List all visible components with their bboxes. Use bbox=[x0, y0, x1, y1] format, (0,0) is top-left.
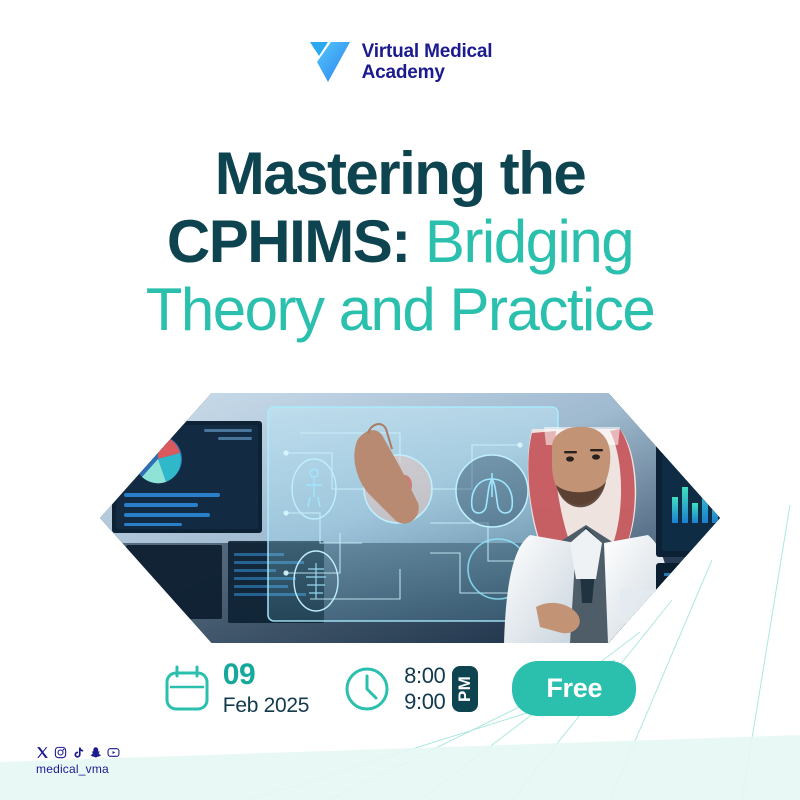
brand-logo: Virtual Medical Academy bbox=[0, 38, 800, 86]
title-line-1: Mastering the bbox=[0, 140, 800, 208]
youtube-icon[interactable] bbox=[107, 746, 120, 759]
title-bridging-label: Bridging bbox=[410, 208, 633, 275]
event-date-day: 09 bbox=[223, 660, 309, 690]
event-time-stack: 8:00 9:00 bbox=[404, 663, 445, 715]
price-badge[interactable]: Free bbox=[512, 661, 636, 716]
hero-illustration bbox=[100, 393, 720, 643]
page-title: Mastering the CPHIMS: Bridging Theory an… bbox=[0, 140, 800, 344]
event-time-end: 9:00 bbox=[404, 689, 445, 715]
tiktok-icon[interactable] bbox=[72, 746, 84, 759]
title-line-3: Theory and Practice bbox=[0, 276, 800, 344]
x-twitter-icon[interactable] bbox=[36, 746, 49, 759]
title-line-1-text: Mastering the bbox=[215, 140, 586, 207]
title-line-3-text: Theory and Practice bbox=[146, 276, 654, 343]
event-date-text: 09 Feb 2025 bbox=[223, 660, 309, 717]
brand-name-line2: Academy bbox=[362, 62, 493, 83]
event-time-start: 8:00 bbox=[404, 663, 445, 689]
event-info-bar: 09 Feb 2025 8:00 9:00 PM Free bbox=[0, 660, 800, 717]
event-date: 09 Feb 2025 bbox=[164, 660, 309, 717]
event-time: 8:00 9:00 PM bbox=[343, 663, 478, 715]
event-date-month-year: Feb 2025 bbox=[223, 695, 309, 717]
title-line-2: CPHIMS: Bridging bbox=[0, 208, 800, 276]
hero-image bbox=[100, 393, 720, 643]
calendar-icon bbox=[164, 665, 210, 713]
snapchat-icon[interactable] bbox=[89, 746, 102, 759]
social-icon-row bbox=[36, 746, 120, 759]
event-poster: Virtual Medical Academy Mastering the CP… bbox=[0, 0, 800, 800]
brand-name-line1: Virtual Medical bbox=[362, 41, 493, 62]
price-label: Free bbox=[546, 673, 602, 703]
title-cphims-label: CPHIMS: bbox=[167, 208, 410, 275]
brand-name: Virtual Medical Academy bbox=[362, 41, 493, 84]
v-checkmark-logo-icon bbox=[308, 38, 352, 86]
event-meridiem-badge: PM bbox=[452, 666, 478, 712]
social-handle: medical_vma bbox=[36, 762, 120, 776]
event-meridiem-label: PM bbox=[455, 675, 475, 701]
social-footer: medical_vma bbox=[36, 746, 120, 776]
instagram-icon[interactable] bbox=[54, 746, 67, 759]
event-time-wrap: 8:00 9:00 PM bbox=[404, 663, 478, 715]
clock-icon bbox=[343, 665, 391, 713]
